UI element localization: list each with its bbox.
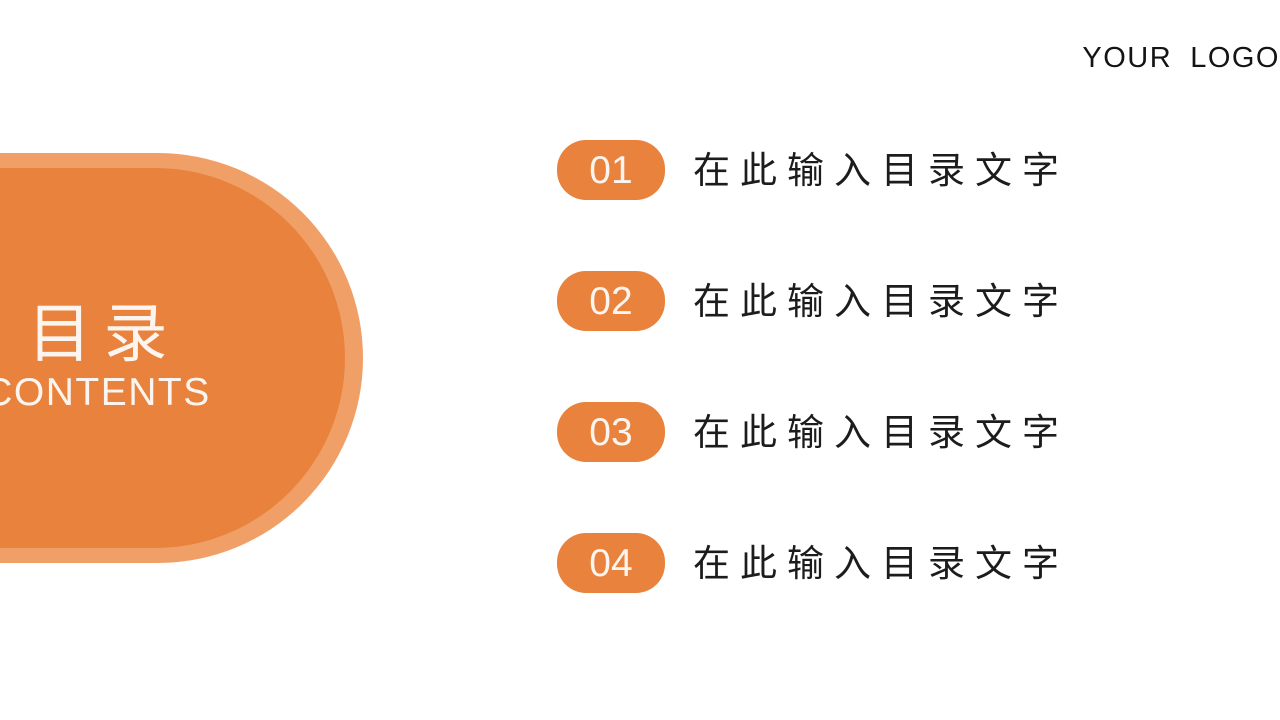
toc-item-04[interactable]: 04 在此输入目录文字 (557, 533, 1257, 593)
toc-number-02: 02 (589, 282, 632, 321)
slide-canvas: YOURLOGO 目录 CONTENTS 01 在此输入目录文字 02 在此输入… (0, 0, 1280, 720)
toc-badge-03[interactable]: 03 (557, 402, 665, 462)
toc-badge-04[interactable]: 04 (557, 533, 665, 593)
toc-item-03[interactable]: 03 在此输入目录文字 (557, 402, 1257, 462)
contents-panel: 目录 CONTENTS (0, 0, 380, 600)
toc-number-01: 01 (589, 151, 632, 190)
contents-panel-text: 目录 CONTENTS (0, 168, 345, 548)
toc-badge-02[interactable]: 02 (557, 271, 665, 331)
logo-word-1: YOUR (1082, 42, 1172, 74)
toc-label-02[interactable]: 在此输入目录文字 (693, 283, 1069, 320)
contents-title-cn: 目录 (16, 303, 180, 367)
logo-word-2: LOGO (1190, 42, 1280, 74)
toc-label-01[interactable]: 在此输入目录文字 (693, 152, 1069, 189)
toc-number-03: 03 (589, 413, 632, 452)
toc-item-01[interactable]: 01 在此输入目录文字 (557, 140, 1257, 200)
contents-title-en: CONTENTS (0, 373, 211, 414)
toc-number-04: 04 (589, 544, 632, 583)
toc-list: 01 在此输入目录文字 02 在此输入目录文字 03 在此输入目录文字 04 在… (557, 140, 1257, 593)
toc-item-02[interactable]: 02 在此输入目录文字 (557, 271, 1257, 331)
logo-text: YOURLOGO (1082, 42, 1280, 75)
toc-badge-01[interactable]: 01 (557, 140, 665, 200)
toc-label-03[interactable]: 在此输入目录文字 (693, 414, 1069, 451)
toc-label-04[interactable]: 在此输入目录文字 (693, 545, 1069, 582)
